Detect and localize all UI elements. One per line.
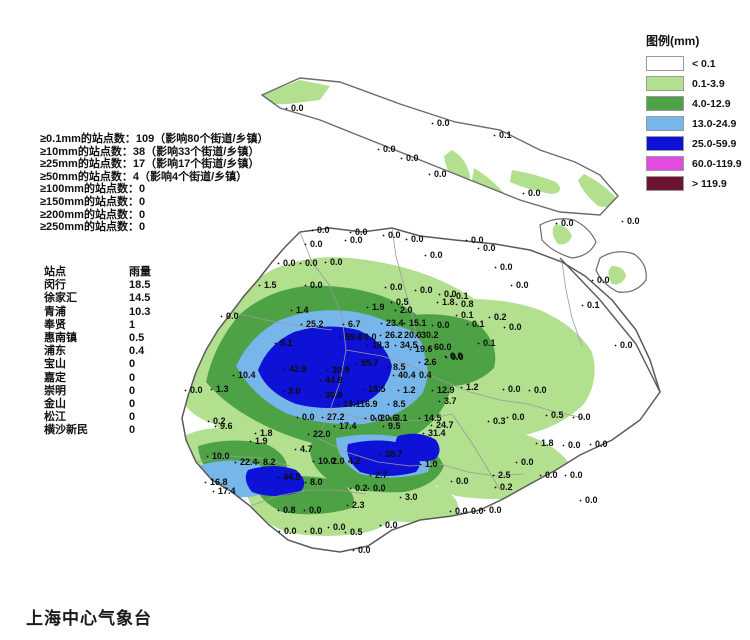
station-value: 0.4 [129,345,144,358]
station-value-label: 0.0 [570,470,583,480]
station-dot [383,426,385,428]
station-value-label: 1.9 [372,302,385,312]
station-dot [345,240,347,242]
station-value-label: 0.0 [373,483,386,493]
station-dot [439,401,441,403]
station-dot [378,149,380,151]
station-value-label: 0.8 [283,505,296,515]
station-value-label: 0.0 [434,169,447,179]
station-value: 0.5 [129,332,144,345]
station-value-label: 30.9 [332,365,350,375]
station-value-label: 13.1 [343,399,361,409]
station-value-label: 0.3 [493,416,506,426]
station-dot [312,230,314,232]
station-value-label: 4.7 [300,444,313,454]
station-dot [279,531,281,533]
station-dot [275,343,277,345]
legend-swatch [646,136,684,151]
station-value-label: 0.5 [551,410,564,420]
station-value-label: 22.4 [240,457,258,467]
station-dot [320,380,322,382]
station-value-label: 0.0 [302,412,315,422]
legend-label: 60.0-119.9 [692,158,742,170]
station-dot [563,445,565,447]
legend-row: 13.0-24.9 [646,114,742,133]
station-dot [350,488,352,490]
footer-credit: 上海中心气象台 [26,604,152,629]
station-value-label: 0.0 [390,282,403,292]
station-dot [622,221,624,223]
station-dot [205,482,207,484]
station-value-label: 0.2 [494,312,507,322]
station-value-label: 30.2 [421,330,439,340]
legend-swatch [646,96,684,111]
legend-row: > 119.9 [646,174,742,193]
station-dot [370,475,372,477]
station-dot [300,263,302,265]
station-value-label: 3.0 [288,386,301,396]
station-value-label: 0.0 [385,520,398,530]
station-dot [327,461,329,463]
station-value-label: 1.9 [255,436,268,446]
station-dot [395,310,397,312]
station-dot [305,482,307,484]
legend-label: 25.0-59.9 [692,138,736,150]
station-value-label: 0.0 [383,144,396,154]
station-dot [388,367,390,369]
station-value-label: 0.0 [561,218,574,228]
station-dot [439,294,441,296]
stat-row: ≥200mm的站点数：0 [40,209,269,222]
station-value-label: 0.0 [317,225,330,235]
stat-row: ≥10mm的站点数：38（影响33个街道/乡镇） [40,146,269,159]
legend-items: < 0.10.1-3.94.0-12.913.0-24.925.0-59.960… [646,54,742,193]
station-value-label: 0.0 [471,235,484,245]
station-value-label: 1.3 [216,384,229,394]
station-value-label: 0.0 [471,506,484,516]
station-value-label: 60.0 [434,342,452,352]
station-dot [546,415,548,417]
station-dot [325,262,327,264]
station-value-label: 0.0 [585,495,598,505]
station-value-label: 0.0 [545,470,558,480]
station-value-label: 10.4 [238,370,256,380]
station-value-label: 0.0 [534,385,547,395]
legend-label: 4.0-12.9 [692,98,731,110]
legend-label: 0.1-3.9 [692,78,725,90]
station-value-label: 0.0 [430,250,443,260]
station-value-label: 8.2 [263,457,276,467]
station-dot [284,369,286,371]
legend: 图例(mm) < 0.10.1-3.94.0-12.913.0-24.925.0… [646,32,742,194]
station-dot [456,315,458,317]
station-name: 闵行 [44,279,66,292]
station-dot [466,511,468,513]
station-dot [429,347,431,349]
station-value-label: 0.0 [500,262,513,272]
station-dot [393,375,395,377]
station-dot [235,462,237,464]
station-dot [536,443,538,445]
station-dot [425,255,427,257]
station-dot [207,456,209,458]
station-dot [493,475,495,477]
station-value-label: 15.1 [409,318,427,328]
station-dot [511,285,513,287]
station-value-label: 0.0 [283,258,296,268]
legend-row: 4.0-12.9 [646,94,742,113]
station-value-label: 0.0 [358,545,371,555]
station-value-label: 1.0 [425,459,438,469]
station-dot [286,108,288,110]
stat-row: ≥50mm的站点数：4（影响4个街道/乡镇） [40,171,269,184]
station-dot [380,525,382,527]
station-dot [416,335,418,337]
station-dot [573,417,575,419]
station-value-label: 0.0 [437,118,450,128]
station-value-label: 0.0 [516,280,529,290]
station-dot [410,349,412,351]
station-dot [503,389,505,391]
station-name: 惠南镇 [44,332,77,345]
station-dot [461,387,463,389]
legend-row: 25.0-59.9 [646,134,742,153]
station-dot [365,418,367,420]
station-value-label: 0.0 [595,439,608,449]
station-dot [343,461,345,463]
station-value-label: 0.0 [521,457,534,467]
station-dot [391,302,393,304]
station-value-label: 0.1 [587,300,600,310]
station-dot [395,345,397,347]
station-dot [432,123,434,125]
station-value-label: 0.1 [472,319,485,329]
station-value-label: 40.4 [398,370,416,380]
station-dot [368,488,370,490]
station-dot [466,240,468,242]
station-dot [383,235,385,237]
station-dot [381,323,383,325]
station-value-label: 8.0 [310,477,323,487]
station-value-label: 0.0 [489,505,502,515]
station-name: 金山 [44,398,66,411]
station-value-label: 0.0 [388,230,401,240]
station-dot [233,375,235,377]
station-dot [388,404,390,406]
station-value-label: 0.0 [455,506,468,516]
legend-swatch [646,176,684,191]
station-value-label: 0.0 [291,103,304,113]
station-value-label: 0.2 [355,483,368,493]
station-dot [590,444,592,446]
station-value-label: 3.0 [405,492,418,502]
station-value-label: 1.8 [442,297,455,307]
station-value-label: 22.0 [313,429,331,439]
station-value-label: 0.1 [499,130,512,140]
station-value-label: 1.2 [466,382,479,392]
station-dot [308,434,310,436]
station-dot [215,426,217,428]
station-value-label: 0.0 [333,522,346,532]
rainfall-map[interactable]: 0.00.00.10.00.00.00.00.00.00.00.00.00.00… [0,0,750,640]
station-dot [367,307,369,309]
station-value-label: 18.5 [368,384,386,394]
station-value-label: 0.0 [528,188,541,198]
station-value-label: 0.0 [190,385,203,395]
station-dot [211,389,213,391]
station-dot [478,343,480,345]
station-value: 18.5 [129,279,150,292]
station-value-label: 0.0 [309,505,322,515]
station-dot [478,248,480,250]
station-dot [420,464,422,466]
station-dot [445,356,447,358]
station-value: 0 [129,424,135,437]
station-dot [415,290,417,292]
station-dot [185,390,187,392]
station-dot [283,391,285,393]
station-value-label: 19.6 [415,344,433,354]
station-value-label: 0.0 [350,235,363,245]
station-value-label: 0.0 [310,280,323,290]
station-dot [450,511,452,513]
station-value-label: 0.0 [406,153,419,163]
station-dot [494,135,496,137]
station-dot [429,174,431,176]
station-dot [255,433,257,435]
station-value-label: 23.4 [386,318,404,328]
station-dot [432,325,434,327]
station-value-label: 0.0 [620,340,633,350]
station-name: 松江 [44,411,66,424]
column-header-rainfall: 雨量 [129,266,151,279]
station-value: 0 [129,385,135,398]
station-name: 徐家汇 [44,292,77,305]
station-dot [489,317,491,319]
station-dot [345,532,347,534]
legend-label: > 119.9 [692,178,727,190]
station-value-label: 18.3 [372,340,390,350]
legend-row: < 0.1 [646,54,742,73]
station-value-label: 0.0 [226,311,239,321]
station-value: 10.3 [129,306,150,319]
legend-swatch [646,56,684,71]
station-dot [488,421,490,423]
station-dot [278,477,280,479]
station-value: 0 [129,398,135,411]
station-dot [540,475,542,477]
station-value: 14.5 [129,292,150,305]
stat-row: ≥250mm的站点数：0 [40,221,269,234]
station-name: 宝山 [44,358,66,371]
station-value-label: 0.0 [310,526,323,536]
station-value: 0 [129,372,135,385]
station-value-label: 0.0 [627,216,640,226]
column-header-station: 站点 [44,266,66,279]
station-dot [484,510,486,512]
station-dot [278,510,280,512]
station-dot [431,425,433,427]
station-dot [291,310,293,312]
station-dot [320,395,322,397]
station-dot [380,454,382,456]
station-dot [258,462,260,464]
station-value-label: 0.0 [508,384,521,394]
legend-swatch [646,76,684,91]
station-dot [467,324,469,326]
station-value-label: 0.0 [597,275,610,285]
legend-swatch [646,156,684,171]
legend-row: 60.0-119.9 [646,154,742,173]
legend-label: < 0.1 [692,58,716,70]
station-value-label: 2.7 [375,470,388,480]
station-dot [359,337,361,339]
station-dot [390,418,392,420]
station-value-label: 0.0 [330,257,343,267]
station-name: 崇明 [44,385,66,398]
stat-row: ≥25mm的站点数：17（影响17个街道/乡镇） [40,158,269,171]
statistics-block: ≥0.1mm的站点数：109（影响80个街道/乡镇） ≥10mm的站点数：38（… [40,133,269,234]
station-dot [250,441,252,443]
station-value-label: 5.1 [280,338,293,348]
station-dot [213,491,215,493]
station-dot [404,323,406,325]
station-value-label: 0.0 [450,351,463,361]
station-dot [305,531,307,533]
station-value-label: 0.1 [483,338,496,348]
station-value-label: 16.9 [360,399,378,409]
station-name: 横沙新民 [44,424,88,437]
station-value-label: 0.4 [419,370,432,380]
station-dot [338,404,340,406]
station-dot [401,158,403,160]
station-dot [565,475,567,477]
station-value-label: 6.7 [348,319,361,329]
station-dot [495,487,497,489]
station-value-label: 2.5 [498,470,511,480]
station-dot [419,362,421,364]
station-value-label: 0.0 [578,412,591,422]
station-value-label: 17.4 [218,486,236,496]
station-value-label: 0.0 [483,243,496,253]
station-value-label: 25.2 [306,319,324,329]
station-dot [456,304,458,306]
station-dot [334,426,336,428]
station-value: 0 [129,358,135,371]
station-dot [327,370,329,372]
station-dot [343,324,345,326]
station-dot [375,418,377,420]
station-value-label: 44.9 [325,375,343,385]
station-value-label: 2.3 [352,500,365,510]
station-value-label: 10.0 [212,451,230,461]
station-value-label: 0.0 [437,320,450,330]
station-dot [328,527,330,529]
station-value-label: 4.2 [348,456,361,466]
station-dot [295,449,297,451]
station-dot [304,510,306,512]
station-dot [305,244,307,246]
station-value-label: 0.2 [500,482,513,492]
station-value-label: 1.2 [403,385,416,395]
station-dot [221,316,223,318]
station-dot [516,462,518,464]
station-dot [399,335,401,337]
station-dot [278,263,280,265]
station-dot [414,375,416,377]
station-value-label: 31.4 [428,428,446,438]
station-value-label: 2.0 [400,305,413,315]
station-dot [322,417,324,419]
station-dot [356,363,358,365]
station-dot [451,481,453,483]
station-name: 浦东 [44,345,66,358]
station-dot [350,232,352,234]
station-dot [495,267,497,269]
station-dot [437,302,439,304]
station-dot [297,417,299,419]
station-value-label: 9.5 [388,421,401,431]
station-value-label: 55.7 [361,358,379,368]
station-value-label: 2.6 [424,357,437,367]
station-name: 奉贤 [44,319,66,332]
station-dot [406,239,408,241]
station-value-label: 30.8 [325,390,343,400]
station-value-label: 3.7 [444,396,457,406]
station-value-label: 44.5 [283,472,301,482]
station-value-label: 0.0 [512,412,525,422]
station-dot [400,497,402,499]
station-dot [507,417,509,419]
station-value-label: 1.4 [296,305,309,315]
station-value-label: 38.7 [385,449,403,459]
station-value-label: 8.5 [393,399,406,409]
station-dot [523,193,525,195]
station-dot [353,550,355,552]
station-value-label: 0.0 [568,440,581,450]
station-value-label: 12.9 [437,385,455,395]
station-value-label: 0.0 [310,239,323,249]
legend-swatch [646,116,684,131]
station-value-label: 20.0 [404,330,422,340]
stat-row: ≥150mm的站点数：0 [40,196,269,209]
station-dot [305,285,307,287]
station-name: 嘉定 [44,372,66,385]
station-dot [592,280,594,282]
station-value: 0 [129,411,135,424]
station-dot [504,327,506,329]
station-value-label: 0.0 [420,285,433,295]
station-dot [347,505,349,507]
station-dot [398,390,400,392]
station-value-label: 0.8 [461,299,474,309]
station-dot [615,345,617,347]
station-dot [367,345,369,347]
station-value: 1 [129,319,135,332]
station-dot [556,223,558,225]
legend-label: 13.0-24.9 [692,118,736,130]
station-dot [423,433,425,435]
station-value-label: 0.0 [509,322,522,332]
stat-row: ≥100mm的站点数：0 [40,183,269,196]
station-dot [340,337,342,339]
legend-title: 图例(mm) [646,32,742,49]
stat-row: ≥0.1mm的站点数：109（影响80个街道/乡镇） [40,133,269,146]
station-dot [380,335,382,337]
station-dot [259,285,261,287]
station-value-label: 0.0 [284,526,297,536]
station-dot [355,404,357,406]
